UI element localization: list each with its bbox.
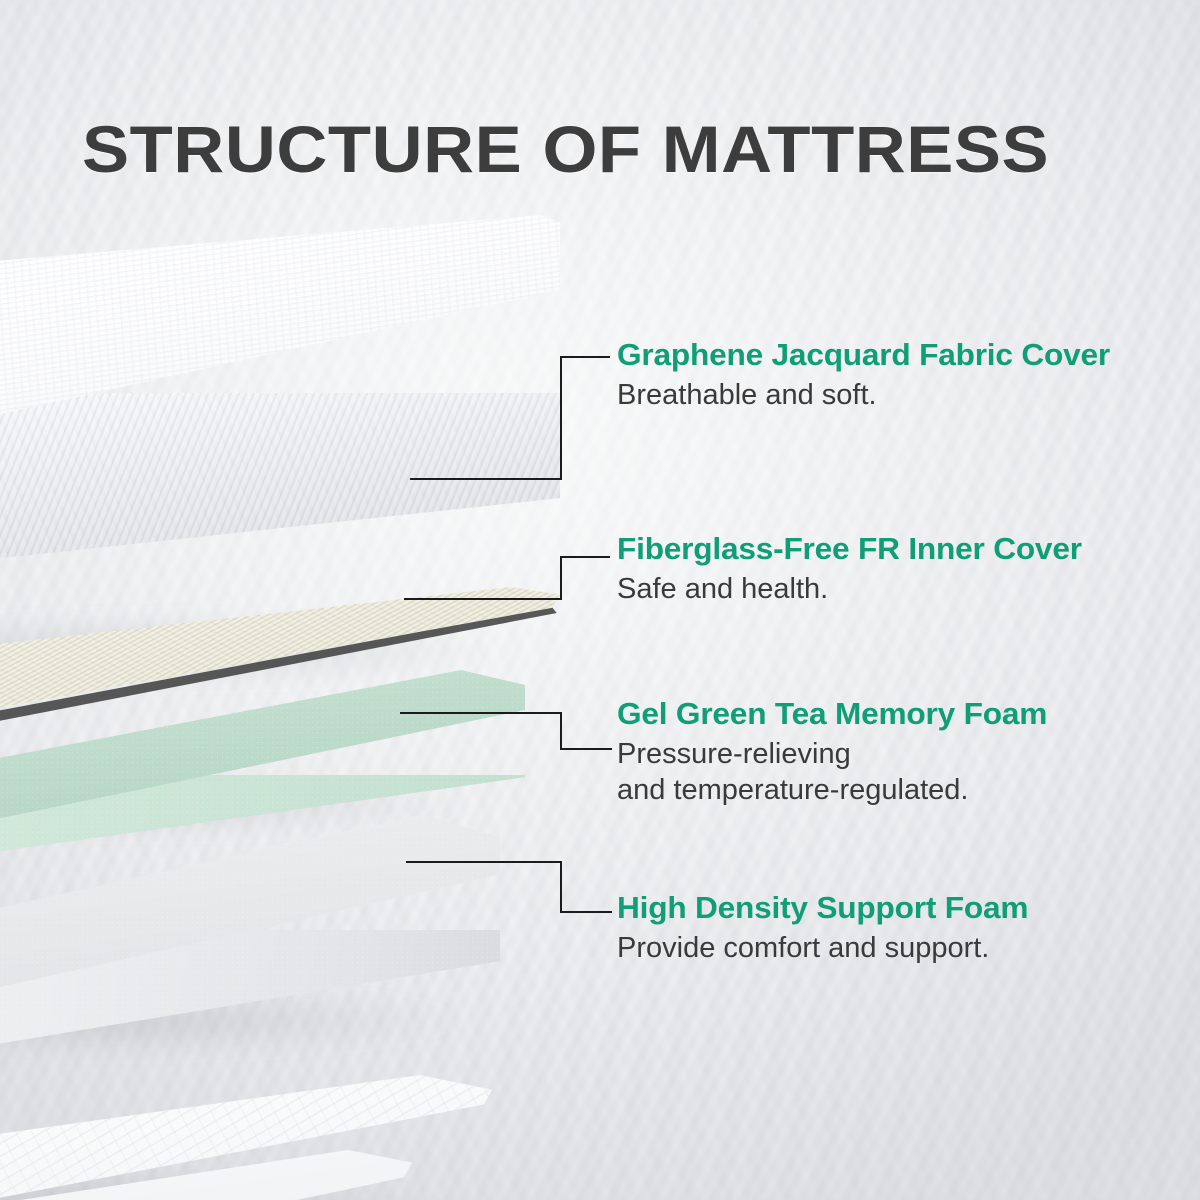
page-title: STRUCTURE OF MATTRESS <box>82 116 1049 182</box>
callout-gel-green-tea-memory-foam: Gel Green Tea Memory Foam Pressure-relie… <box>617 697 1039 809</box>
callout-heading: Fiberglass-Free FR Inner Cover <box>617 532 1082 565</box>
callout-heading: Graphene Jacquard Fabric Cover <box>617 338 1110 371</box>
mattress-layer-stack-illustration <box>0 215 600 1085</box>
callout-graphene-jacquard-fabric-cover: Graphene Jacquard Fabric Cover Breathabl… <box>617 338 1100 414</box>
callout-description: Breathable and soft. <box>617 378 1100 414</box>
callout-description: Pressure-relieving and temperature-regul… <box>617 737 1039 809</box>
callout-fiberglass-free-fr-inner-cover: Fiberglass-Free FR Inner Cover Safe and … <box>617 532 1073 608</box>
callout-high-density-support-foam: High Density Support Foam Provide comfor… <box>617 891 1020 967</box>
callout-heading: Gel Green Tea Memory Foam <box>617 697 1047 730</box>
callout-heading: High Density Support Foam <box>617 891 1028 924</box>
product-infographic: STRUCTURE OF MATTRESS <box>0 0 1200 1200</box>
callout-description: Provide comfort and support. <box>617 931 1020 967</box>
callout-description: Safe and health. <box>617 572 1073 608</box>
